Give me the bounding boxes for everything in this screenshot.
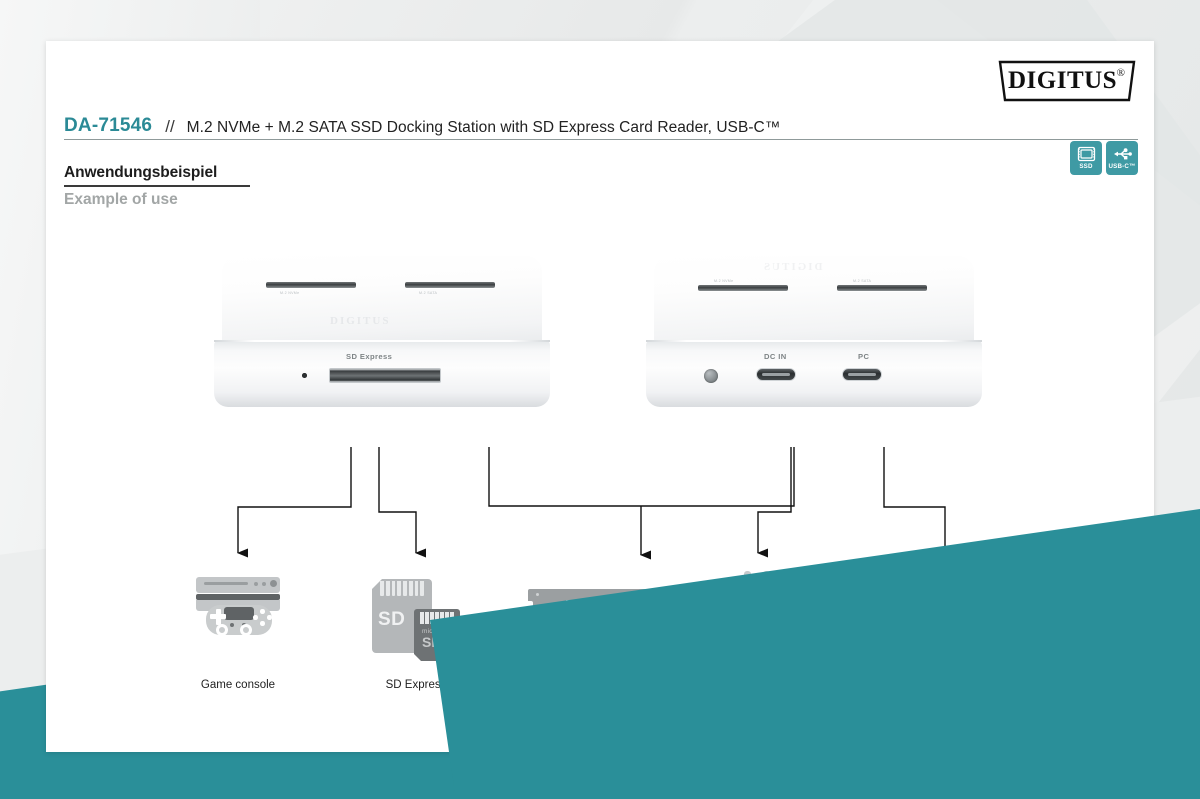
page-canvas: DIGITUS ® DA-71546 // M.2 NVMe + M.2 SAT… <box>0 0 1200 799</box>
status-led <box>302 373 307 378</box>
feature-badges: SSD USB-C™ <box>1070 141 1138 175</box>
ssd-badge-label: SSD <box>1079 163 1092 171</box>
microsd-pin <box>420 612 424 624</box>
gamepad-button-a <box>260 609 265 614</box>
gamepad-stick-right <box>240 624 252 636</box>
connection-label-sd-express: SD Express <box>386 679 447 691</box>
wire-pc <box>884 447 945 553</box>
m2-slot-right-label-rear: M.2 SATA <box>853 279 871 283</box>
sd-pin <box>409 581 413 596</box>
sd-pin <box>420 581 424 596</box>
sd-pin <box>386 581 390 596</box>
m2-slot-right-label: M.2 SATA <box>419 291 437 295</box>
dock-rear-panel: DC IN PC <box>646 340 982 407</box>
gamepad-mid-dot-a <box>230 623 234 627</box>
connection-label-game-console: Game console <box>201 679 275 691</box>
wire-sd-express <box>379 447 416 553</box>
sd-pin <box>397 581 401 596</box>
product-description: M.2 NVMe + M.2 SATA SSD Docking Station … <box>187 119 781 137</box>
console-knob <box>270 580 277 587</box>
console-led-a <box>254 582 258 586</box>
m2-slot-right-rear <box>837 285 927 291</box>
usb-trident-icon <box>1112 144 1133 163</box>
gamepad-center <box>224 607 254 620</box>
sd-pin <box>415 581 419 596</box>
sd-pin <box>380 581 384 596</box>
wire-m2-bracket <box>489 447 794 506</box>
docking-station-front-view: M.2 NVMe M.2 SATA DIGITUS SD Express <box>222 255 542 407</box>
wire-power-delivery <box>758 447 791 553</box>
game-console-icon <box>184 571 292 641</box>
gamepad-button-c <box>253 615 258 620</box>
product-code: DA-71546 <box>64 115 152 137</box>
gamepad-stick-left <box>216 624 228 636</box>
dock-top-surface <box>222 255 542 346</box>
m2-slot-left-rear <box>698 285 788 291</box>
wire-game-console <box>238 447 351 553</box>
m2-slot-right <box>405 282 495 288</box>
usbc-badge: USB-C™ <box>1106 141 1138 175</box>
gamepad-button-b <box>267 615 272 620</box>
usbc-badge-label: USB-C™ <box>1109 163 1136 171</box>
power-button[interactable] <box>704 369 718 383</box>
ssd-drive-icon <box>1077 144 1096 163</box>
dock-top-emboss-logo-rear: DIGITUS <box>762 261 822 273</box>
title-separator: // <box>165 117 174 137</box>
m2-slot-left-label: M.2 NVMe <box>280 291 299 295</box>
digitus-logo: DIGITUS ® <box>996 59 1138 103</box>
usbc-port-pc <box>842 368 882 381</box>
sd-card-text: SD <box>378 609 405 631</box>
docking-station-rear-view: DIGITUS M.2 NVMe M.2 SATA DC IN PC <box>654 255 974 407</box>
microsd-pin <box>425 612 429 624</box>
m2-screw-top <box>536 593 539 596</box>
title-divider <box>64 139 1138 140</box>
gamepad-button-d <box>260 621 265 626</box>
section-heading-en: Example of use <box>64 191 178 209</box>
dpad-vertical <box>216 609 221 625</box>
sd-card-slot <box>329 368 441 383</box>
dc-in-label: DC IN <box>764 352 787 361</box>
logo-registered-mark: ® <box>1117 67 1125 79</box>
m2-slot-left <box>266 282 356 288</box>
pc-port-label: PC <box>858 352 869 361</box>
title-row: DA-71546 // M.2 NVMe + M.2 SATA SSD Dock… <box>64 107 1138 137</box>
dock-front-panel: SD Express <box>214 340 550 407</box>
console-body <box>196 577 280 593</box>
m2-slot-left-label-rear: M.2 NVMe <box>714 279 733 283</box>
ssd-badge: SSD <box>1070 141 1102 175</box>
logo-wordmark: DIGITUS <box>1008 67 1117 95</box>
section-heading-de: Anwendungsbeispiel <box>64 164 217 182</box>
connection-game-console: Game console <box>182 571 294 701</box>
sd-card-pins <box>380 581 424 596</box>
sd-express-label: SD Express <box>346 352 392 361</box>
sd-pin <box>403 581 407 596</box>
console-led-b <box>262 582 266 586</box>
console-vent <box>204 582 248 585</box>
usbc-port-dcin <box>756 368 796 381</box>
section-heading-underline <box>64 185 250 187</box>
sd-pin <box>392 581 396 596</box>
dock-top-emboss-logo: DIGITUS <box>330 315 390 327</box>
